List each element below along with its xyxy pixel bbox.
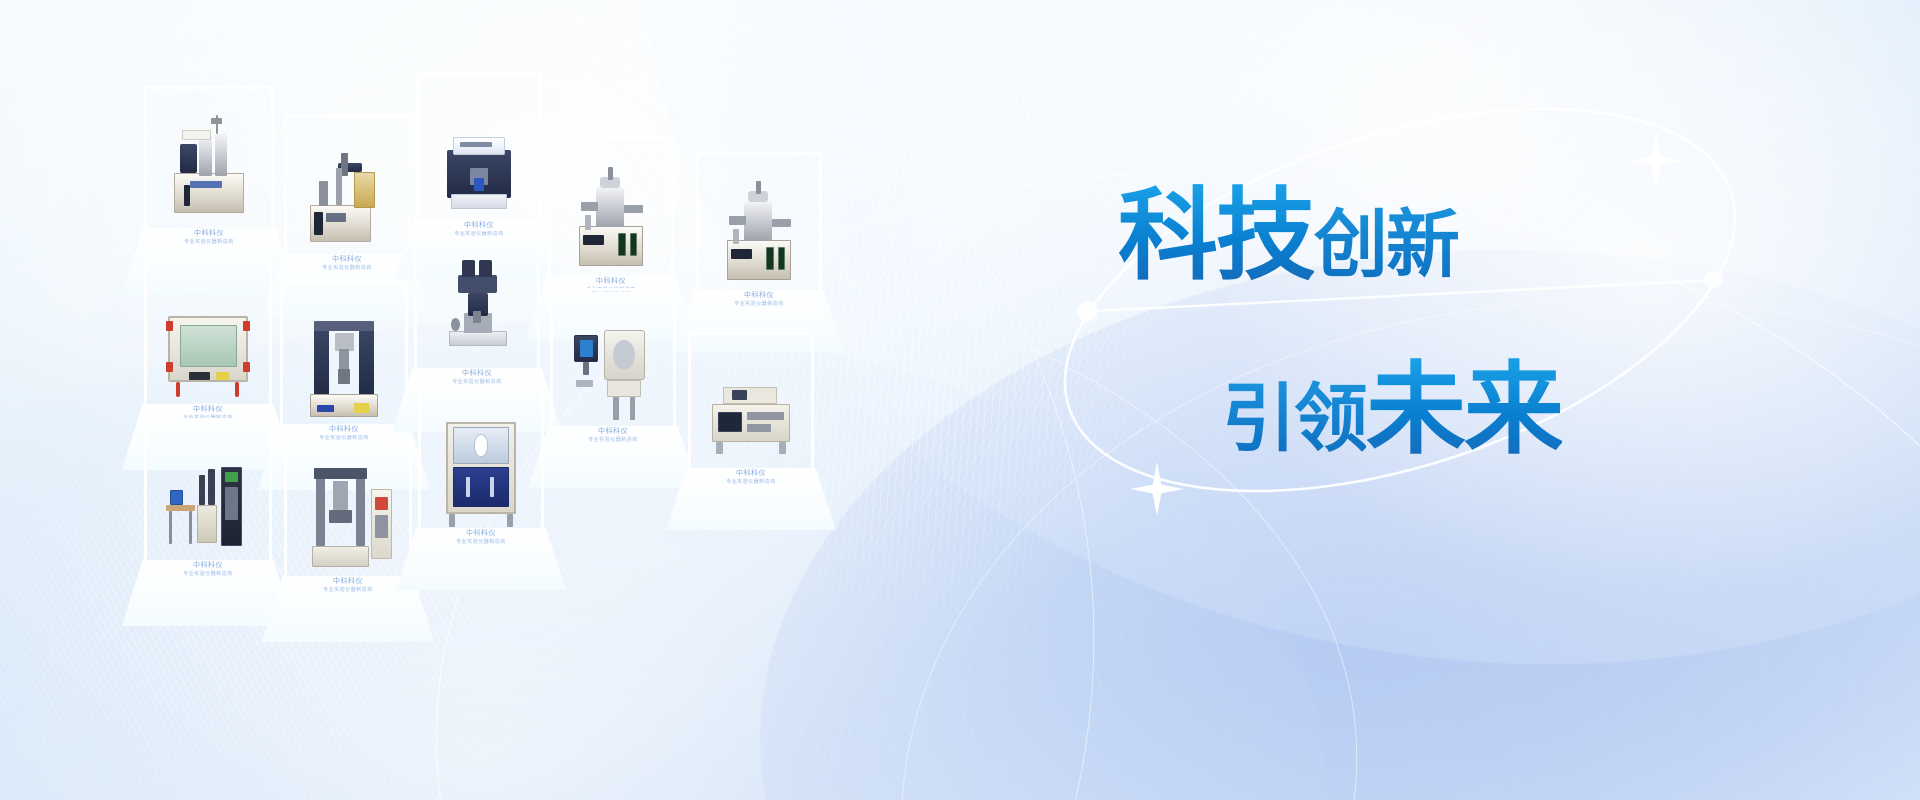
machine-door-handle-left xyxy=(466,477,470,497)
product-watermark-main: 中科科仪 xyxy=(466,530,496,537)
product-watermark-sub: 专业实验仪器制造商 xyxy=(456,539,506,545)
machine-caster-left xyxy=(449,514,455,527)
headline-line1-lead: 科技 xyxy=(1118,180,1314,292)
headline-line-1: 科技创新 xyxy=(1118,186,1858,286)
machine-caster-right xyxy=(507,514,513,527)
headline-block: 科技创新 引领未来 xyxy=(1118,186,1858,460)
headline-line1-tail: 创新 xyxy=(1314,203,1458,286)
machine-fan xyxy=(474,434,489,457)
headline-line-2: 引领未来 xyxy=(1118,360,1858,460)
headline-line2-tail: 未来 xyxy=(1366,354,1562,466)
headline-line2-lead: 引领 xyxy=(1222,377,1366,460)
hero-banner: 中科科仪专业实验仪器制造商中科科仪专业实验仪器制造商中科科仪专业实验仪器制造商中… xyxy=(0,0,1920,800)
machine-door-handle-right xyxy=(490,477,494,497)
machine-graphic xyxy=(435,409,528,534)
product-image xyxy=(435,409,528,534)
machine-door-panel xyxy=(453,467,509,507)
product-watermark: 中科科仪专业实验仪器制造商 xyxy=(456,530,506,545)
